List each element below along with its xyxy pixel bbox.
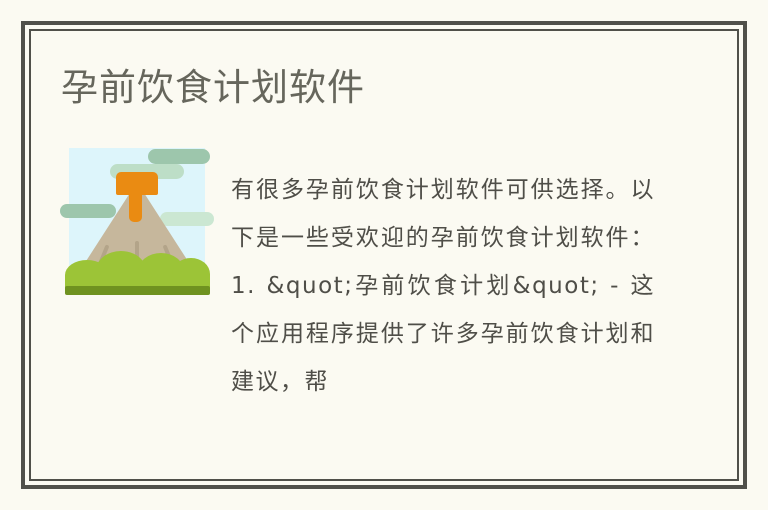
lava-flow — [129, 190, 142, 222]
page-title: 孕前饮食计划软件 — [61, 63, 365, 113]
cloud-bar-icon — [60, 204, 116, 218]
article-body-text: 有很多孕前饮食计划软件可供选择。以下是一些受欢迎的孕前饮食计划软件：1. &qu… — [231, 166, 655, 406]
ground-strip — [65, 286, 210, 295]
cloud-bar-icon — [148, 149, 210, 164]
volcano-illustration — [64, 146, 210, 298]
article-page: 孕前饮食计划软件 有很多孕前饮食计划软件可供选择。以下是一些受欢迎的孕前饮食计划… — [0, 0, 768, 510]
cloud-bar-icon — [160, 212, 214, 226]
